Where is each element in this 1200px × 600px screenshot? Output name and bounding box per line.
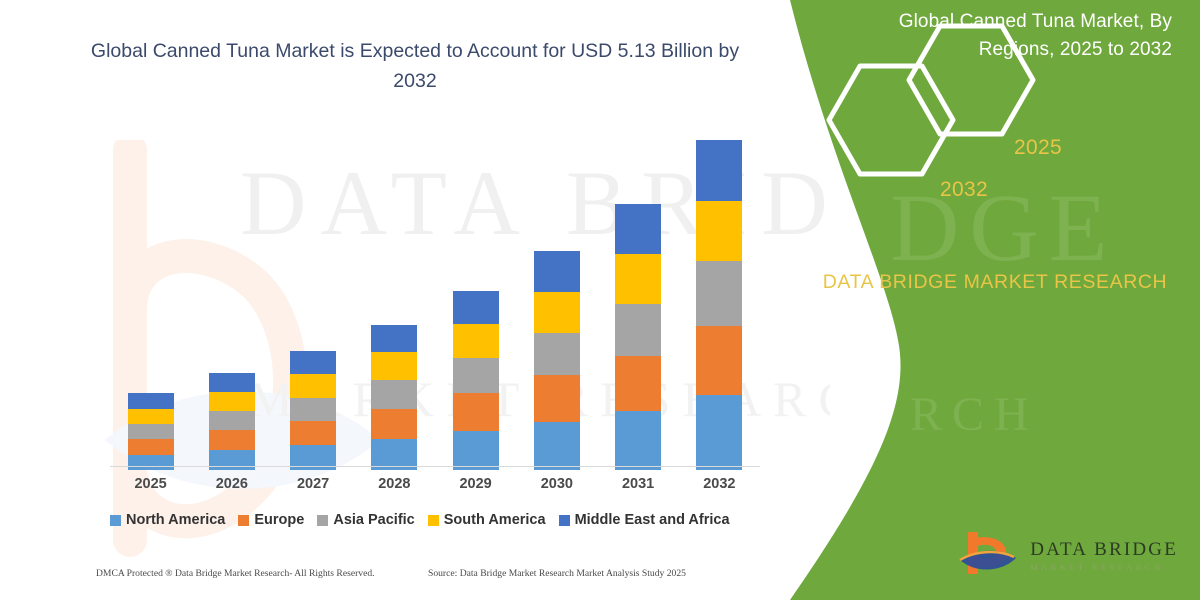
segment-asia-pacific[interactable] [128,424,174,439]
logo-main-text: DATA BRIDGE [1030,540,1178,559]
segment-north-america[interactable] [534,422,580,470]
bar-2025[interactable] [128,393,174,470]
x-label-2028: 2028 [359,476,429,492]
x-label-2026: 2026 [197,476,267,492]
segment-asia-pacific[interactable] [696,261,742,325]
legend-item-south-america[interactable]: South America [428,512,546,528]
segment-europe[interactable] [209,430,255,449]
segment-middle-east-and-africa[interactable] [128,393,174,408]
segment-south-america[interactable] [696,201,742,262]
segment-europe[interactable] [371,409,417,439]
bar-2032[interactable] [696,140,742,470]
svg-text:RCH: RCH [910,388,1039,441]
legend-label: South America [444,512,546,528]
segment-asia-pacific[interactable] [534,333,580,376]
x-label-2027: 2027 [278,476,348,492]
footer-copyright: DMCA Protected ® Data Bridge Market Rese… [96,568,375,579]
segment-middle-east-and-africa[interactable] [209,373,255,392]
x-label-2030: 2030 [522,476,592,492]
segment-europe[interactable] [534,375,580,421]
bar-2029[interactable] [453,291,499,470]
x-label-2032: 2032 [684,476,754,492]
x-axis-labels: 20252026202720282029203020312032 [110,476,760,500]
segment-middle-east-and-africa[interactable] [615,204,661,254]
legend-label: Asia Pacific [333,512,414,528]
svg-text:DGE: DGE [890,174,1117,281]
segment-middle-east-and-africa[interactable] [696,140,742,201]
legend-label: Europe [254,512,304,528]
legend-item-middle-east-and-africa[interactable]: Middle East and Africa [559,512,730,528]
legend-item-north-america[interactable]: North America [110,512,225,528]
segment-asia-pacific[interactable] [453,358,499,393]
segment-south-america[interactable] [371,352,417,380]
legend-swatch [428,515,439,526]
chart-legend: North AmericaEuropeAsia PacificSouth Ame… [110,512,770,528]
x-axis-line [110,466,760,467]
segment-north-america[interactable] [696,395,742,470]
segment-europe[interactable] [696,326,742,396]
logo-sub-text: MARKET RESEARCH [1030,563,1178,572]
bar-2026[interactable] [209,373,255,470]
segment-south-america[interactable] [453,324,499,358]
legend-item-europe[interactable]: Europe [238,512,304,528]
legend-swatch [559,515,570,526]
logo-mark-icon [956,528,1020,584]
segment-south-america[interactable] [290,374,336,397]
footer: DMCA Protected ® Data Bridge Market Rese… [0,568,800,590]
segment-south-america[interactable] [615,254,661,304]
legend-item-asia-pacific[interactable]: Asia Pacific [317,512,414,528]
segment-middle-east-and-africa[interactable] [371,325,417,353]
segment-europe[interactable] [453,393,499,430]
segment-south-america[interactable] [534,292,580,333]
bar-2027[interactable] [290,351,336,470]
segment-asia-pacific[interactable] [290,398,336,421]
bar-2028[interactable] [371,324,417,470]
data-bridge-logo: DATA BRIDGE MARKET RESEARCH [956,528,1178,584]
segment-middle-east-and-africa[interactable] [290,351,336,374]
legend-label: North America [126,512,225,528]
segment-middle-east-and-africa[interactable] [453,291,499,325]
segment-south-america[interactable] [209,392,255,411]
legend-swatch [110,515,121,526]
bar-2030[interactable] [534,251,580,470]
segment-north-america[interactable] [615,411,661,470]
stacked-bar-chart [110,140,760,470]
segment-asia-pacific[interactable] [371,380,417,409]
bar-2031[interactable] [615,204,661,470]
legend-label: Middle East and Africa [575,512,730,528]
footer-source: Source: Data Bridge Market Research Mark… [428,568,686,579]
x-label-2031: 2031 [603,476,673,492]
segment-asia-pacific[interactable] [209,411,255,430]
infographic-canvas: DATA BRIDGE MARKET RESEARCH Global Canne… [0,0,1200,600]
segment-asia-pacific[interactable] [615,304,661,356]
chart-pane: DATA BRIDGE MARKET RESEARCH Global Canne… [0,0,830,600]
segment-middle-east-and-africa[interactable] [534,251,580,292]
segment-north-america[interactable] [453,431,499,470]
x-label-2029: 2029 [441,476,511,492]
page-title: Global Canned Tuna Market is Expected to… [70,36,760,96]
segment-north-america[interactable] [128,455,174,470]
segment-south-america[interactable] [128,409,174,424]
segment-europe[interactable] [615,356,661,411]
segment-europe[interactable] [290,421,336,445]
legend-swatch [238,515,249,526]
segment-europe[interactable] [128,439,174,454]
panel-title: Global Canned Tuna Market, By Regions, 2… [842,8,1172,63]
x-label-2025: 2025 [116,476,186,492]
legend-swatch [317,515,328,526]
